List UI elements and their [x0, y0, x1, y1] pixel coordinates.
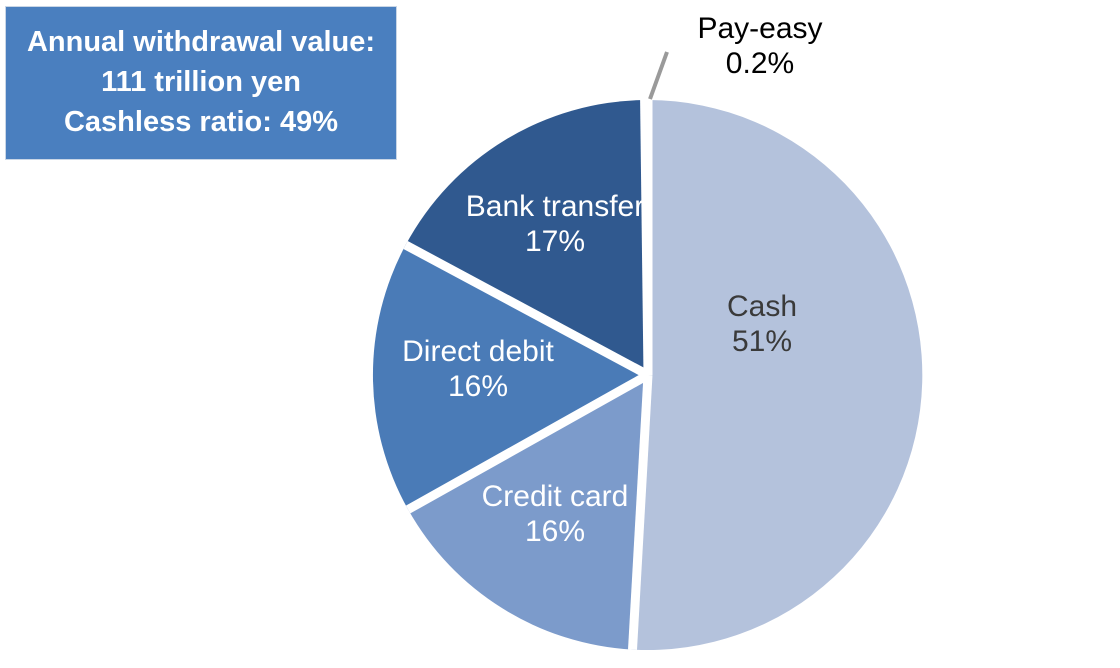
pay-easy-leader-line — [650, 52, 667, 99]
chart-canvas: Annual withdrawal value: 111 trillion ye… — [0, 0, 1120, 668]
pie-slice-cash[interactable] — [633, 100, 923, 650]
pie-chart — [0, 0, 1120, 668]
